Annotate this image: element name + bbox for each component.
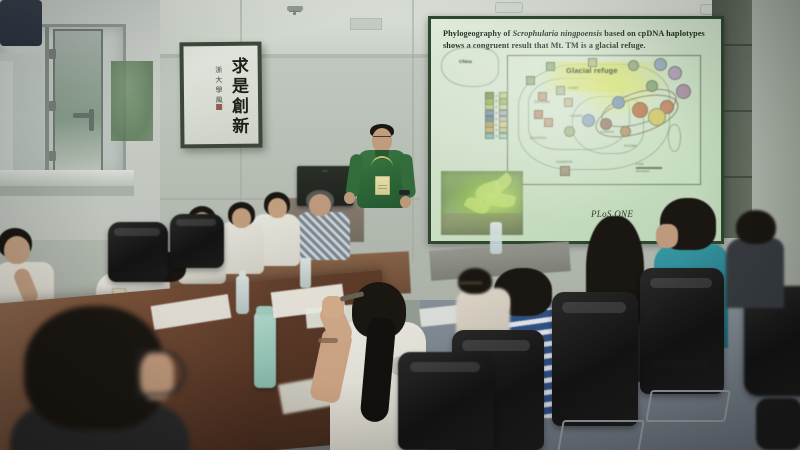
head	[4, 236, 30, 264]
calligraphy-seal	[216, 104, 222, 110]
window	[0, 24, 126, 178]
thermos-lid	[256, 306, 274, 315]
office-chair[interactable]	[640, 268, 724, 394]
checkered-shirt	[296, 212, 350, 260]
chair-base	[645, 390, 731, 422]
bracelet	[318, 338, 338, 343]
bottle-cap	[239, 270, 246, 278]
office-chair[interactable]	[170, 214, 224, 268]
calligraphy-mat: 求是創新 浙大學風	[183, 46, 258, 145]
glasses-icon	[460, 282, 482, 290]
monitor-logo	[322, 170, 328, 172]
hair	[736, 210, 776, 244]
chair-highlight	[650, 278, 712, 288]
ceiling-light-fixture	[495, 2, 523, 13]
window-reflection	[0, 61, 13, 181]
presenter-left-hand	[344, 192, 355, 204]
presenter-pants	[0, 0, 42, 46]
window-sill	[0, 170, 134, 186]
office-chair[interactable]	[398, 352, 494, 450]
chair-highlight	[176, 219, 216, 226]
office-chair[interactable]	[552, 292, 638, 426]
window-hinge	[49, 49, 56, 59]
sprinkler-icon	[287, 6, 303, 11]
water-bottle[interactable]	[490, 222, 502, 254]
lanyard	[371, 156, 393, 178]
hair	[458, 268, 492, 294]
presenter	[0, 0, 42, 46]
seminar-room-photo: 求是創新 浙大學風 Phylogeography of Scrophularia…	[0, 0, 800, 450]
head	[232, 208, 251, 228]
calligraphy-signature: 浙大學風	[214, 66, 224, 106]
window-handle[interactable]	[73, 113, 93, 118]
dark-top	[726, 238, 784, 308]
trees-outside	[111, 61, 153, 141]
window-hinge	[49, 151, 56, 161]
framed-calligraphy: 求是創新 浙大學風	[179, 42, 262, 149]
window-hinge	[49, 101, 56, 111]
face-edge	[656, 224, 678, 248]
calligraphy-main-text: 求是創新	[226, 57, 252, 137]
wall-seam	[412, 0, 414, 262]
chair-highlight	[562, 302, 626, 313]
glasses-icon	[373, 136, 391, 141]
water-bottle[interactable]	[236, 276, 249, 314]
chair-highlight	[410, 362, 480, 372]
chair-highlight	[652, 360, 708, 367]
window-pane-open[interactable]	[53, 29, 103, 177]
head	[268, 198, 287, 218]
chair-base	[557, 420, 645, 450]
glasses-icon	[136, 350, 186, 396]
thermos[interactable]	[254, 312, 276, 388]
chair-seat	[756, 398, 800, 450]
name-badge	[375, 176, 390, 195]
window-sill-shadow	[0, 186, 134, 196]
chair-highlight	[114, 228, 160, 236]
head	[309, 194, 331, 216]
water-bottle[interactable]	[300, 258, 311, 288]
wristwatch	[399, 190, 410, 195]
ceiling-vent	[350, 18, 382, 30]
office-chair[interactable]	[108, 222, 168, 282]
presenter-right-hand	[400, 196, 411, 208]
chair-highlight	[462, 340, 530, 351]
